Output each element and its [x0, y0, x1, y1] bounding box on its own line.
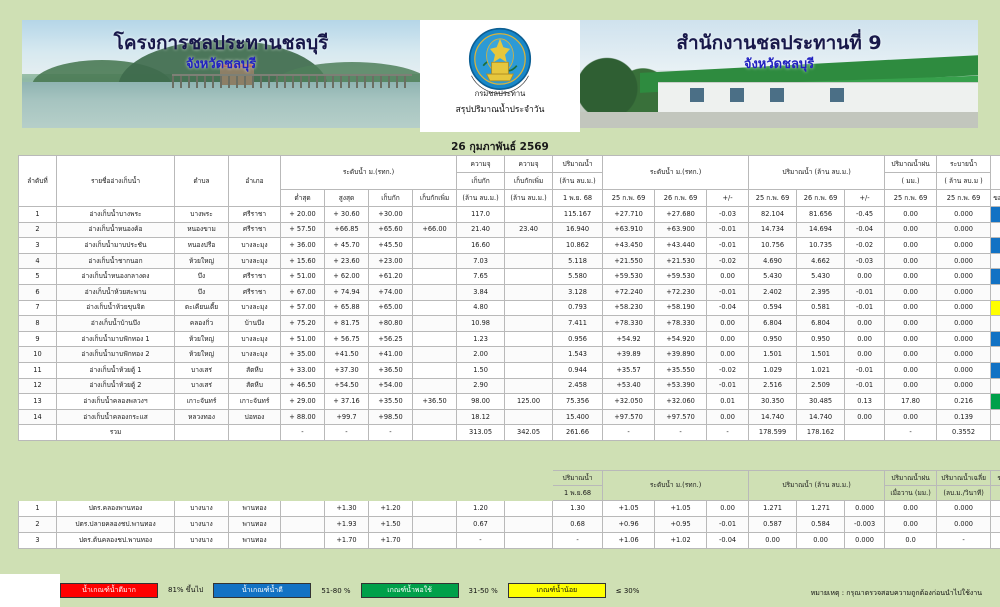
cell-vol-d2: 1.501 — [797, 347, 845, 363]
cell-pct-old: 86.52 — [991, 378, 1000, 394]
cell-cap-store: 117.0 — [457, 207, 505, 223]
cell-level-store-extra — [413, 362, 457, 378]
cell-level-diff: -0.01 — [707, 378, 749, 394]
cell-cap-store: 1.50 — [457, 362, 505, 378]
cell-rain: 0.00 — [885, 222, 937, 238]
cell-cap-extra — [505, 409, 553, 425]
cell-rain: 0.00 — [885, 207, 937, 223]
cell-level-store-extra — [413, 207, 457, 223]
cell-level-min: + 75.20 — [281, 316, 325, 332]
cell-vol-diff: -0.01 — [845, 378, 885, 394]
cell-level-diff: - — [707, 425, 749, 441]
cell-total-label: รวม — [57, 425, 175, 441]
cell-rain: 0.00 — [885, 300, 937, 316]
gate-table-row[interactable]: 1ปตร.คลองพานทองบางนางพานทอง+1.30+1.201.2… — [19, 501, 1000, 517]
cell-drain: 0.000 — [937, 253, 991, 269]
cell-rain: 0.00 — [885, 269, 937, 285]
cell-level-d2: +1.02 — [655, 533, 707, 549]
table-row[interactable]: 5อ่างเก็บน้ำหนองกลางดงบึงศรีราชา+ 51.00+… — [19, 269, 1000, 285]
cell-amphoe: บางละมุง — [229, 300, 281, 316]
th-vol-d1: 25 ก.พ. 69 — [749, 190, 797, 207]
cell-level-d1: +53.40 — [603, 378, 655, 394]
cell-level-d2: +63.900 — [655, 222, 707, 238]
th2-rain-sub: เมื่อวาน (มม.) — [885, 486, 937, 501]
cell-level-d2: +43.440 — [655, 238, 707, 254]
th2-level-group: ระดับน้ำ ม.(รทก.) — [603, 471, 749, 501]
cell-tambon: บางนาง — [175, 517, 229, 533]
cell-level-store-extra — [413, 331, 457, 347]
th-cap-store-1: ความจุ — [457, 156, 505, 173]
cell-rain-yesterday: 0.00 — [885, 501, 937, 517]
th-cap-store-2: เก็บกัก — [457, 173, 505, 190]
cell-pct-old: 68.07 — [991, 362, 1000, 378]
cell-level-max: + 56.75 — [325, 331, 369, 347]
cell-vol-start: 10.862 — [553, 238, 603, 254]
cell-pct-old: 12.10 — [991, 300, 1000, 316]
cell-seq: 2 — [19, 222, 57, 238]
cell-vol-d2: 1.271 — [797, 501, 845, 517]
cell-level-store: +61.20 — [369, 269, 413, 285]
cell-level-store: +65.00 — [369, 300, 413, 316]
cell-cap-store: 7.65 — [457, 269, 505, 285]
cell-drain: 0.000 — [937, 331, 991, 347]
th-seq: ลำดับที่ — [19, 156, 57, 207]
th-name: รายชื่ออ่างเก็บน้ำ — [57, 156, 175, 207]
cell-vol-d2: 14.740 — [797, 409, 845, 425]
cell-pct-old: 70.98 — [991, 269, 1000, 285]
cell-level-d2: +97.570 — [655, 409, 707, 425]
cell-level-store: +65.60 — [369, 222, 413, 238]
cell-vol-start: 0.956 — [553, 331, 603, 347]
cell-vol-d2: 2.395 — [797, 284, 845, 300]
cell-vol-diff: 0.00 — [845, 331, 885, 347]
th2-gate-lift: ระยะยกบาน — [991, 471, 1000, 486]
cell-tambon: บางนาง — [175, 533, 229, 549]
cell-amphoe: บางละมุง — [229, 347, 281, 363]
table-row[interactable]: 4อ่างเก็บน้ำชากนอกห้วยใหญ่บางละมุง+ 15.6… — [19, 253, 1000, 269]
table-row[interactable]: 10อ่างเก็บน้ำมาบฟักทอง 2ห้วยใหญ่บางละมุง… — [19, 347, 1000, 363]
cell-reservoir-name: อ่างเก็บน้ำคลองพลวงฯ — [57, 394, 175, 410]
th-rain-2: ( มม.) — [885, 173, 937, 190]
cell-c5: 0.67 — [457, 517, 505, 533]
cell-vol-diff: 0.000 — [845, 501, 885, 517]
th-tambon: ตำบล — [175, 156, 229, 207]
cell-gate-lift: - — [991, 533, 1000, 549]
cell-drain: 0.216 — [937, 394, 991, 410]
cell-pct-old: 75.05 — [991, 347, 1000, 363]
cell-level-d1: +72.240 — [603, 284, 655, 300]
table-row[interactable]: 12อ่างเก็บน้ำห้วยตู้ 2บางเสร่สัตหีบ+ 46.… — [19, 378, 1000, 394]
cell-cap-extra: 125.00 — [505, 394, 553, 410]
cell-level-d2: +32.060 — [655, 394, 707, 410]
cell-rain-yesterday: 0.0 — [885, 533, 937, 549]
cell-level-diff: -0.04 — [707, 300, 749, 316]
right-banner-window — [730, 88, 744, 102]
cell-amphoe: ศรีราชา — [229, 269, 281, 285]
reservoir-table-head: ลำดับที่ รายชื่ออ่างเก็บน้ำ ตำบล อำเภอ ร… — [19, 156, 1000, 207]
cell-seq: 7 — [19, 300, 57, 316]
cell-c1 — [281, 517, 325, 533]
cell-level-diff: 0.00 — [707, 347, 749, 363]
th-level-max: สูงสุด — [325, 190, 369, 207]
cell-seq — [19, 425, 57, 441]
cell-level-d1: +35.57 — [603, 362, 655, 378]
cell-reservoir-name: อ่างเก็บน้ำห้วยสะพาน — [57, 284, 175, 300]
cell-level-store: +23.00 — [369, 253, 413, 269]
cell-reservoir-name: อ่างเก็บน้ำห้วยขุนจิต — [57, 300, 175, 316]
th-cap-extra-unit: (ล้าน ลบ.ม.) — [505, 190, 553, 207]
cell-vol-start: 75.356 — [553, 394, 603, 410]
cell-level-d2: +59.530 — [655, 269, 707, 285]
cell-tambon: ห้วยใหญ่ — [175, 347, 229, 363]
cell-cap-store: 98.00 — [457, 394, 505, 410]
cell-vol-d1: 0.587 — [749, 517, 797, 533]
cell-seq: 14 — [19, 409, 57, 425]
cell-gate-lift: 0.00 — [991, 517, 1000, 533]
cell-level-d2: - — [655, 425, 707, 441]
cell-level-store-extra — [413, 238, 457, 254]
cell-level-store: +74.00 — [369, 284, 413, 300]
cell-pct-old: 77.24 — [991, 331, 1000, 347]
cell-vol-d1: 10.756 — [749, 238, 797, 254]
cell-vol-diff: 0.00 — [845, 347, 885, 363]
cell-level-max: + 74.94 — [325, 284, 369, 300]
cell-cap-store: 313.05 — [457, 425, 505, 441]
cell-seq: 10 — [19, 347, 57, 363]
cell-level-max: + 23.60 — [325, 253, 369, 269]
cell-reservoir-name: อ่างเก็บน้ำชากนอก — [57, 253, 175, 269]
cell-vol-d1: 2.402 — [749, 284, 797, 300]
cell-rain: 0.00 — [885, 253, 937, 269]
cell-drain: 0.000 — [937, 378, 991, 394]
cell-pct-old: 81.35 — [991, 409, 1000, 425]
table-row[interactable]: 7อ่างเก็บน้ำห้วยขุนจิตตะเคียนเตี้ยบางละม… — [19, 300, 1000, 316]
cell-level-d1: - — [603, 425, 655, 441]
right-banner-ground — [580, 112, 978, 128]
cell-gate-name: ปตร.ต้นคลองชป.พานทอง — [57, 533, 175, 549]
cell-level-d2: +53.390 — [655, 378, 707, 394]
cell-vol-d1: 30.350 — [749, 394, 797, 410]
header-row-1: ลำดับที่ รายชื่ออ่างเก็บน้ำ ตำบล อำเภอ ร… — [19, 156, 1000, 173]
cell-tambon — [175, 425, 229, 441]
cell-level-max: + 81.75 — [325, 316, 369, 332]
cell-rain: 0.00 — [885, 331, 937, 347]
page-header: โครงการชลประทานชลบุรี จังหวัดชลบุรี กรมช… — [22, 20, 978, 132]
cell-reservoir-name: อ่างเก็บน้ำคลองกระแส — [57, 409, 175, 425]
cell-level-store-extra — [413, 409, 457, 425]
cell-vol-diff: -0.003 — [845, 517, 885, 533]
cell-level-d2: +35.550 — [655, 362, 707, 378]
cell-level-diff: 0.00 — [707, 409, 749, 425]
cell-tambon: บางพระ — [175, 207, 229, 223]
cell-amphoe: บางละมุง — [229, 253, 281, 269]
cell-drain: 0.000 — [937, 284, 991, 300]
cell-vol-d2: 4.662 — [797, 253, 845, 269]
cell-cap-store: 7.03 — [457, 253, 505, 269]
cell-level-min: + 51.00 — [281, 269, 325, 285]
cell-level-max: +99.7 — [325, 409, 369, 425]
cell-vol-d2: 81.656 — [797, 207, 845, 223]
cell-rain: 0.00 — [885, 238, 937, 254]
cell-vol-d1: 5.430 — [749, 269, 797, 285]
gate-table-wrapper: ปริมาณน้ำ ระดับน้ำ ม.(รทก.) ปริมาณน้ำ (ล… — [18, 470, 982, 549]
th2-gate-lift-sub: ( ม.) — [991, 486, 1000, 501]
th-level2-d1: 25 ก.พ. 69 — [603, 190, 655, 207]
th-pct1-sub: ของความจุเดิม — [991, 190, 1000, 207]
cell-level-d1: +32.050 — [603, 394, 655, 410]
left-banner-image: โครงการชลประทานชลบุรี จังหวัดชลบุรี — [22, 20, 420, 128]
gate-table-head: ปริมาณน้ำ ระดับน้ำ ม.(รทก.) ปริมาณน้ำ (ล… — [19, 471, 1000, 501]
table-row[interactable]: 9อ่างเก็บน้ำมาบฟักทอง 1ห้วยใหญ่บางละมุง+… — [19, 331, 1000, 347]
table-row[interactable]: 11อ่างเก็บน้ำห้วยตู้ 1บางเสร่สัตหีบ+ 33.… — [19, 362, 1000, 378]
cell-vol-diff: 0.13 — [845, 394, 885, 410]
cell-drain: 0.000 — [937, 207, 991, 223]
legend-chip-green: เกณฑ์น้ำพอใช้ — [361, 583, 459, 598]
th-rain-1: ปริมาณน้ำฝน — [885, 156, 937, 173]
th-pct1: คิดเป็น % — [991, 156, 1000, 190]
cell-drain: 0.000 — [937, 362, 991, 378]
gate-header-spacer-2 — [19, 486, 553, 501]
cell-amphoe: บ่อทอง — [229, 409, 281, 425]
table-row[interactable]: 13อ่างเก็บน้ำคลองพลวงฯเกาะจันทร์เกาะจันท… — [19, 394, 1000, 410]
cell-vol-start: 0.68 — [553, 517, 603, 533]
cell-tambon: ห้วยใหญ่ — [175, 331, 229, 347]
cell-rain: 17.80 — [885, 394, 937, 410]
cell-vol-start: 5.580 — [553, 269, 603, 285]
cell-seq: 12 — [19, 378, 57, 394]
cell-gate-name: ปตร.ปลายคลองชป.พานทอง — [57, 517, 175, 533]
cell-reservoir-name: อ่างเก็บน้ำหนองกลางดง — [57, 269, 175, 285]
gate-header-spacer — [19, 471, 553, 486]
cell-seq: 9 — [19, 331, 57, 347]
cell-avg-flow: 0.000 — [937, 517, 991, 533]
cell-seq: 8 — [19, 316, 57, 332]
cell-pct-old: 64.67 — [991, 238, 1000, 254]
cell-vol-d2: 30.485 — [797, 394, 845, 410]
legend-range-blue: 51-80 % — [311, 587, 360, 595]
cell-amphoe — [229, 425, 281, 441]
cell-tambon: คลองกิ่ว — [175, 316, 229, 332]
cell-drain: 0.000 — [937, 300, 991, 316]
cell-rain: 0.00 — [885, 362, 937, 378]
cell-rain: 0.00 — [885, 347, 937, 363]
cell-level-store: - — [369, 425, 413, 441]
cell-level-min: + 35.00 — [281, 347, 325, 363]
legend-range-red: 81% ขึ้นไป — [158, 585, 213, 596]
cell-level-diff: -0.01 — [707, 517, 749, 533]
cell-level-d1: +59.530 — [603, 269, 655, 285]
cell-reservoir-name: อ่างเก็บน้ำบ้านบึง — [57, 316, 175, 332]
cell-vol-d1: 2.516 — [749, 378, 797, 394]
cell-cap-store: 1.23 — [457, 331, 505, 347]
cell-cap-extra — [505, 331, 553, 347]
cell-vol-d2: 0.950 — [797, 331, 845, 347]
cell-level-min: + 29.00 — [281, 394, 325, 410]
cell-c6 — [505, 533, 553, 549]
cell-cap-extra — [505, 238, 553, 254]
cell-vol-d2: 1.021 — [797, 362, 845, 378]
cell-level-min: + 20.00 — [281, 207, 325, 223]
cell-vol-d1: 4.690 — [749, 253, 797, 269]
cell-gate-name: ปตร.คลองพานทอง — [57, 501, 175, 517]
gate-table-row[interactable]: 2ปตร.ปลายคลองชป.พานทองบางนางพานทอง+1.93+… — [19, 517, 1000, 533]
cell-cap-extra — [505, 362, 553, 378]
cell-vol-d1: 6.804 — [749, 316, 797, 332]
cell-level-store: +56.25 — [369, 331, 413, 347]
table-row[interactable]: 6อ่างเก็บน้ำห้วยสะพานบึงศรีราชา+ 67.00+ … — [19, 284, 1000, 300]
th2-avg-sub: (ลบ.ม./วินาที) — [937, 486, 991, 501]
cell-c5: - — [457, 533, 505, 549]
cell-drain: 0.000 — [937, 316, 991, 332]
cell-level-store-extra — [413, 378, 457, 394]
table-row[interactable]: 1อ่างเก็บน้ำบางพระบางพระศรีราชา+ 20.00+ … — [19, 207, 1000, 223]
cell-level-diff: -0.03 — [707, 207, 749, 223]
cell-level-store: +30.00 — [369, 207, 413, 223]
cell-tambon: หนองปรือ — [175, 238, 229, 254]
cell-cap-extra — [505, 253, 553, 269]
cell-seq: 1 — [19, 501, 57, 517]
cell-tambon: บางนาง — [175, 501, 229, 517]
cell-pct-old: 61.96 — [991, 316, 1000, 332]
cell-level-store-extra: +36.50 — [413, 394, 457, 410]
cell-level-store: +54.00 — [369, 378, 413, 394]
cell-c3: +1.70 — [369, 533, 413, 549]
th2-avg: ปริมาณน้ำเฉลี่ย — [937, 471, 991, 486]
cell-vol-d2: 178.162 — [797, 425, 845, 441]
cell-vol-start: 16.940 — [553, 222, 603, 238]
cell-level-max: +54.50 — [325, 378, 369, 394]
cell-cap-store: 3.84 — [457, 284, 505, 300]
th-drain-date: 25 ก.พ. 69 — [937, 190, 991, 207]
cell-rain: 0.00 — [885, 378, 937, 394]
cell-c1 — [281, 501, 325, 517]
cell-level-d2: +1.05 — [655, 501, 707, 517]
cell-level-store-extra — [413, 425, 457, 441]
cell-rain: 0.00 — [885, 409, 937, 425]
cell-vol-d1: 14.740 — [749, 409, 797, 425]
reservoir-table: ลำดับที่ รายชื่ออ่างเก็บน้ำ ตำบล อำเภอ ร… — [18, 155, 1000, 441]
cell-seq: 2 — [19, 517, 57, 533]
table-row[interactable]: 2อ่างเก็บน้ำหนองค้อหนองขามศรีราชา+ 57.50… — [19, 222, 1000, 238]
table-row[interactable]: 8อ่างเก็บน้ำบ้านบึงคลองกิ่วบ้านบึง+ 75.2… — [19, 316, 1000, 332]
gate-header-row-1: ปริมาณน้ำ ระดับน้ำ ม.(รทก.) ปริมาณน้ำ (ล… — [19, 471, 1000, 486]
cell-c2: +1.30 — [325, 501, 369, 517]
cell-vol-d2: 10.735 — [797, 238, 845, 254]
table-row[interactable]: 14อ่างเก็บน้ำคลองกระแสหลวงทองบ่อทอง+ 88.… — [19, 409, 1000, 425]
cell-tambon: หลวงทอง — [175, 409, 229, 425]
th2-vol-start: ปริมาณน้ำ — [553, 471, 603, 486]
cell-vol-start: 1.30 — [553, 501, 603, 517]
cell-vol-start: 0.793 — [553, 300, 603, 316]
cell-tambon: ตะเคียนเตี้ย — [175, 300, 229, 316]
right-banner-subtitle: จังหวัดชลบุรี — [580, 53, 978, 74]
cell-level-min: + 88.00 — [281, 409, 325, 425]
cell-level-diff: -0.04 — [707, 533, 749, 549]
right-banner-window — [690, 88, 704, 102]
cell-cap-extra: 23.40 — [505, 222, 553, 238]
cell-level-max: +66.85 — [325, 222, 369, 238]
cell-seq: 13 — [19, 394, 57, 410]
cell-level-min: + 51.00 — [281, 331, 325, 347]
cell-vol-d2: 14.694 — [797, 222, 845, 238]
cell-level-max: +37.30 — [325, 362, 369, 378]
cell-vol-start: 0.944 — [553, 362, 603, 378]
cell-level-d1: +21.550 — [603, 253, 655, 269]
cell-level-store-extra: +66.00 — [413, 222, 457, 238]
cell-vol-d1: 82.104 — [749, 207, 797, 223]
cell-vol-start: 15.400 — [553, 409, 603, 425]
cell-level-d2: +72.230 — [655, 284, 707, 300]
legend-items: น้ำเกณฑ์น้ำดีมาก81% ขึ้นไปน้ำเกณฑ์น้ำดี5… — [60, 583, 649, 598]
cell-reservoir-name: อ่างเก็บน้ำหนองค้อ — [57, 222, 175, 238]
cell-cap-extra — [505, 269, 553, 285]
report-date: 26 กุมภาพันธ์ 2569 — [22, 138, 978, 155]
cell-level-d1: +27.710 — [603, 207, 655, 223]
cell-vol-start: 3.128 — [553, 284, 603, 300]
cell-vol-diff: -0.02 — [845, 238, 885, 254]
cell-drain: 0.3552 — [937, 425, 991, 441]
cell-vol-d2: 0.581 — [797, 300, 845, 316]
cell-vol-diff: -0.01 — [845, 362, 885, 378]
th-level-min: ต่ำสุด — [281, 190, 325, 207]
cell-vol-start: 7.411 — [553, 316, 603, 332]
cell-level-diff: -0.02 — [707, 362, 749, 378]
cell-level-min: + 33.00 — [281, 362, 325, 378]
cell-vol-d2: 6.804 — [797, 316, 845, 332]
cell-level-store: +80.80 — [369, 316, 413, 332]
cell-gate-lift: 0.00 — [991, 501, 1000, 517]
cell-vol-diff: -0.03 — [845, 253, 885, 269]
cell-level-min: + 36.00 — [281, 238, 325, 254]
cell-amphoe: ศรีราชา — [229, 284, 281, 300]
th-level-store: เก็บกัก — [369, 190, 413, 207]
cell-seq: 1 — [19, 207, 57, 223]
cell-amphoe: ศรีราชา — [229, 207, 281, 223]
th-vol-start-date: 1 พ.ย. 68 — [553, 190, 603, 207]
reservoir-table-body: 1อ่างเก็บน้ำบางพระบางพระศรีราชา+ 20.00+ … — [19, 207, 1000, 441]
cell-level-max: + 37.16 — [325, 394, 369, 410]
cell-reservoir-name: อ่างเก็บน้ำมาบฟักทอง 1 — [57, 331, 175, 347]
cell-level-d1: +97.570 — [603, 409, 655, 425]
cell-vol-diff: -0.01 — [845, 284, 885, 300]
left-banner-subtitle: จังหวัดชลบุรี — [22, 53, 420, 74]
cell-amphoe: บางละมุง — [229, 331, 281, 347]
table-row[interactable]: 3อ่างเก็บน้ำมาบประชันหนองปรือบางละมุง+ 3… — [19, 238, 1000, 254]
gate-table-body: 1ปตร.คลองพานทองบางนางพานทอง+1.30+1.201.2… — [19, 501, 1000, 549]
cell-c2: +1.93 — [325, 517, 369, 533]
cell-vol-diff: 0.00 — [845, 269, 885, 285]
cell-vol-d2: 0.00 — [797, 533, 845, 549]
gate-table-row[interactable]: 3ปตร.ต้นคลองชป.พานทองบางนางพานทอง+1.70+1… — [19, 533, 1000, 549]
cell-vol-d1: 0.00 — [749, 533, 797, 549]
cell-tambon: บางเสร่ — [175, 362, 229, 378]
report-page: โครงการชลประทานชลบุรี จังหวัดชลบุรี กรมช… — [0, 0, 1000, 607]
cell-avg-flow: - — [937, 533, 991, 549]
cell-c5: 1.20 — [457, 501, 505, 517]
cell-vol-d2: 2.509 — [797, 378, 845, 394]
th-cap-store-unit: (ล้าน ลบ.ม.) — [457, 190, 505, 207]
cell-amphoe: บางละมุง — [229, 238, 281, 254]
cell-level-d2: +27.680 — [655, 207, 707, 223]
cell-drain: 0.000 — [937, 238, 991, 254]
cell-c2: +1.70 — [325, 533, 369, 549]
cell-vol-d1: 178.599 — [749, 425, 797, 441]
th-vol-diff: +/- — [845, 190, 885, 207]
cell-drain: 0.000 — [937, 347, 991, 363]
cell-reservoir-name: อ่างเก็บน้ำมาบประชัน — [57, 238, 175, 254]
legend-range-green: 31-50 % — [459, 587, 508, 595]
cell-pct-old: 31.11 — [991, 394, 1000, 410]
